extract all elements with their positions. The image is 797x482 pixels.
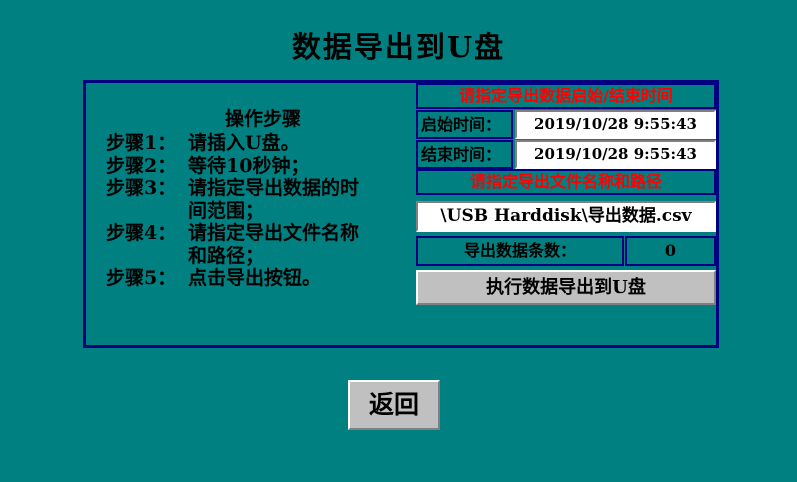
step-text-1: 请插入U盘。 [188,133,414,154]
export-count-value: 0 [625,236,716,266]
step-label-4-cont [86,246,188,267]
step-item-3-cont: 间范围； [86,201,414,222]
step-text-4-cont: 和路径； [188,246,414,267]
step-text-2: 等待10秒钟； [188,156,414,177]
path-section-header: 请指定导出文件名称和路径 [416,169,716,195]
export-count-label: 导出数据条数： [416,236,624,266]
step-item-1: 步骤1： 请插入U盘。 [86,133,414,154]
step-text-5: 点击导出按钮。 [188,268,414,289]
end-time-row: 结束时间： 2019/10/28 9:55:43 [416,140,716,169]
back-button[interactable]: 返回 [348,380,440,430]
start-time-label: 启始时间： [416,110,513,139]
time-section-header: 请指定导出数据启始/结束时间 [416,83,716,109]
end-time-label: 结束时间： [416,140,513,169]
step-item-2: 步骤2： 等待10秒钟； [86,156,414,177]
step-item-4-cont: 和路径； [86,246,414,267]
step-item-4: 步骤4： 请指定导出文件名称 [86,223,414,244]
page-title: 数据导出到U盘 [0,24,797,66]
steps-heading: 操作步骤 [112,104,414,131]
start-time-input[interactable]: 2019/10/28 9:55:43 [515,110,716,139]
step-item-5: 步骤5： 点击导出按钮。 [86,268,414,289]
step-label-1: 步骤1： [86,133,188,154]
step-label-2: 步骤2： [86,156,188,177]
step-text-4: 请指定导出文件名称 [188,223,414,244]
step-label-3: 步骤3： [86,178,188,199]
start-time-row: 启始时间： 2019/10/28 9:55:43 [416,110,716,139]
export-path-input[interactable]: \USB Harddisk\导出数据.csv [416,201,716,232]
export-panel: 请指定导出数据启始/结束时间 启始时间： 2019/10/28 9:55:43 … [416,83,716,345]
step-item-3: 步骤3： 请指定导出数据的时 [86,178,414,199]
step-label-4: 步骤4： [86,223,188,244]
steps-panel: 操作步骤 步骤1： 请插入U盘。 步骤2： 等待10秒钟； 步骤3： 请指定导出… [86,83,414,345]
step-label-5: 步骤5： [86,268,188,289]
execute-export-button[interactable]: 执行数据导出到U盘 [416,270,716,305]
end-time-input[interactable]: 2019/10/28 9:55:43 [515,140,716,169]
step-label-3-cont [86,201,188,222]
main-panel: 操作步骤 步骤1： 请插入U盘。 步骤2： 等待10秒钟； 步骤3： 请指定导出… [83,80,719,348]
step-text-3: 请指定导出数据的时 [188,178,414,199]
export-count-row: 导出数据条数： 0 [416,236,716,266]
step-text-3-cont: 间范围； [188,201,414,222]
